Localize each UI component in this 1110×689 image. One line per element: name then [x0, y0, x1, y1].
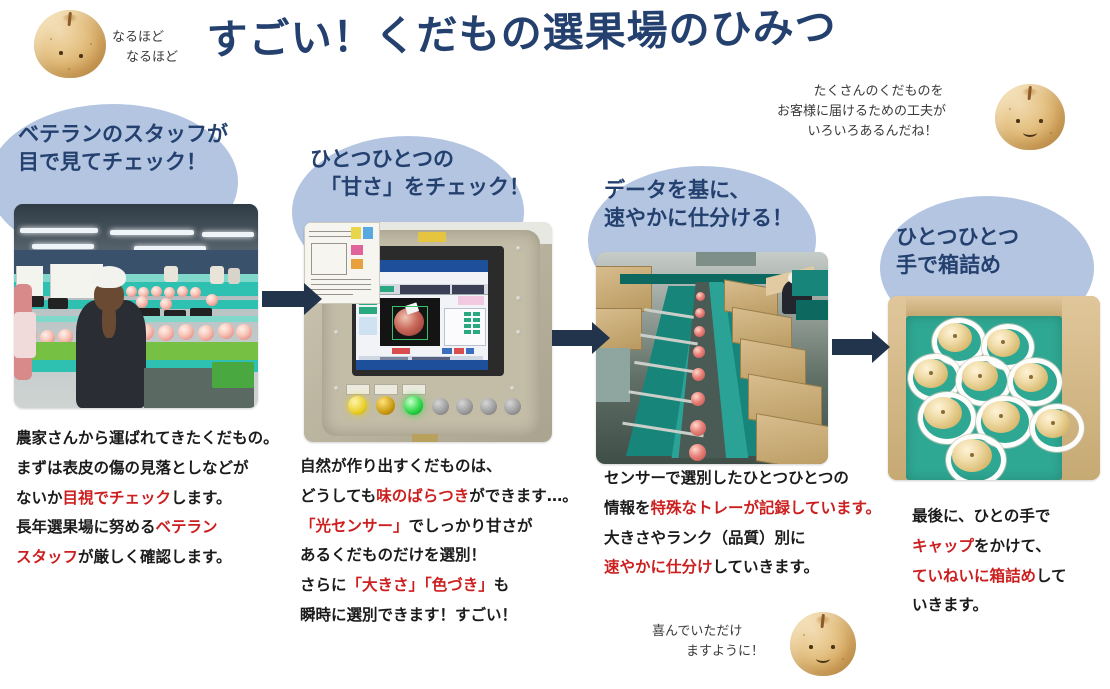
arrow-step3-to-step4	[832, 329, 890, 365]
infographic-canvas: なるほど なるほど すごい！くだもの選果場のひみつ たくさんのくだものを お客様…	[0, 0, 1110, 689]
step-3-heading: データを基に、 速やかに仕分ける！	[604, 177, 793, 232]
body-line: まずは表皮の傷の見落としなどが	[16, 454, 279, 484]
note-line: ますように！	[686, 642, 764, 662]
body-line: 大きさやランク（品質）別に	[604, 524, 881, 554]
note-line: なるほど	[112, 28, 178, 48]
step-4-heading: ひとつひとつ 手で箱詰め	[896, 224, 1019, 279]
body-line: 瞬時に選別できます！すごい！	[300, 601, 578, 631]
note-line: たくさんのくだものを	[811, 82, 946, 102]
pear-eye-right	[1039, 119, 1043, 123]
pear-speck	[68, 68, 70, 70]
pear-top-left-avatar	[34, 10, 106, 78]
pear-top-right-avatar	[995, 84, 1065, 150]
indicator-lamp-green[interactable]	[404, 396, 423, 415]
arrow-step2-to-step3	[552, 320, 610, 356]
body-line: あるくだものだけを選別！	[300, 541, 578, 571]
note-line: なるほど	[126, 48, 178, 68]
step-4-body: 最後に、ひとの手で キャップをかけて、 ていねいに箱詰めして いきます。	[912, 502, 1067, 621]
heading-line: ひとつひとつ	[896, 224, 1019, 252]
step-3-body: センサーで選別したひとつひとつの 情報を特殊なトレーが記録しています。 大きさや…	[604, 464, 881, 583]
heading-line: 手で箱詰め	[896, 252, 1019, 280]
body-line: 情報を特殊なトレーが記録しています。	[604, 494, 881, 524]
body-line: さらに「大きさ」「色づき」も	[300, 571, 578, 601]
pear-mouth	[816, 654, 830, 663]
heading-line: ベテランのスタッフが	[18, 121, 228, 149]
body-line: ないか目視でチェックします。	[16, 484, 279, 514]
panel-button[interactable]	[432, 398, 449, 415]
step-1-photo	[14, 204, 258, 408]
pear-speck	[803, 634, 805, 636]
body-line: スタッフが厳しく確認します。	[16, 543, 279, 573]
pear-eye-left	[809, 645, 813, 649]
step-4-photo	[888, 296, 1100, 480]
pear-bottom-note: 喜んでいただけ ますように！	[652, 622, 764, 662]
page-title: すごい！くだもの選果場のひみつ	[206, 0, 837, 66]
heading-line: 速やかに仕分ける！	[604, 205, 793, 233]
pear-mouth	[1023, 128, 1037, 137]
step-1-body: 農家さんから運ばれてきたくだもの。 まずは表皮の傷の見落としなどが ないか目視で…	[16, 424, 279, 573]
note-line: いろいろあるんだね！	[799, 122, 946, 142]
panel-button[interactable]	[480, 398, 497, 415]
body-line: 長年選果場に努めるベテラン	[16, 513, 279, 543]
note-line: 喜んでいただけ	[652, 622, 764, 642]
panel-button[interactable]	[504, 398, 521, 415]
body-line: センサーで選別したひとつひとつの	[604, 464, 881, 494]
pear-speck	[842, 658, 844, 660]
heading-line: 「甘さ」をチェック！	[320, 174, 530, 202]
body-line: キャップをかけて、	[912, 532, 1067, 562]
body-line: 自然が作り出すくだものは、	[300, 452, 578, 482]
body-line: 農家さんから運ばれてきたくだもの。	[16, 424, 279, 454]
arrow-step1-to-step2	[262, 281, 322, 317]
pear-speck	[50, 38, 52, 40]
body-line: 最後に、ひとの手で	[912, 502, 1067, 532]
pear-speck	[1050, 132, 1052, 134]
pear-bottom-avatar	[790, 612, 856, 676]
body-line: 「光センサー」でしっかり甘さが	[300, 512, 578, 542]
pear-eye-right	[79, 54, 83, 58]
pear-top-left-note: なるほど なるほど	[112, 28, 178, 68]
panel-button[interactable]	[456, 398, 473, 415]
step-1-heading: ベテランのスタッフが 目で見てチェック！	[18, 121, 228, 176]
indicator-lamp-amber[interactable]	[376, 396, 395, 415]
pear-eye-right	[831, 645, 835, 649]
step-3-photo	[596, 252, 828, 464]
pear-speck	[90, 43, 92, 45]
pear-top-right-note: たくさんのくだものを お客様に届けるための工夫が いろいろあるんだね！	[777, 82, 946, 142]
indicator-lamp-yellow[interactable]	[348, 396, 367, 415]
body-line: いきます。	[912, 591, 1067, 621]
heading-line: データを基に、	[604, 177, 793, 205]
body-line: どうしても味のばらつきができます…。	[300, 482, 578, 512]
pear-eye-left	[59, 51, 63, 55]
heading-line: 目で見てチェック！	[18, 149, 228, 177]
body-line: 速やかに仕分けしていきます。	[604, 553, 881, 583]
pear-speck	[1009, 108, 1011, 110]
step-2-photo	[304, 222, 552, 442]
body-line: ていねいに箱詰めして	[912, 562, 1067, 592]
step-2-body: 自然が作り出すくだものは、 どうしても味のばらつきができます…。 「光センサー」…	[300, 452, 578, 631]
note-line: お客様に届けるための工夫が	[777, 102, 946, 122]
heading-line: ひとつひとつの	[310, 146, 530, 174]
step-2-heading: ひとつひとつの 「甘さ」をチェック！	[310, 146, 530, 201]
pear-eye-left	[1016, 119, 1020, 123]
